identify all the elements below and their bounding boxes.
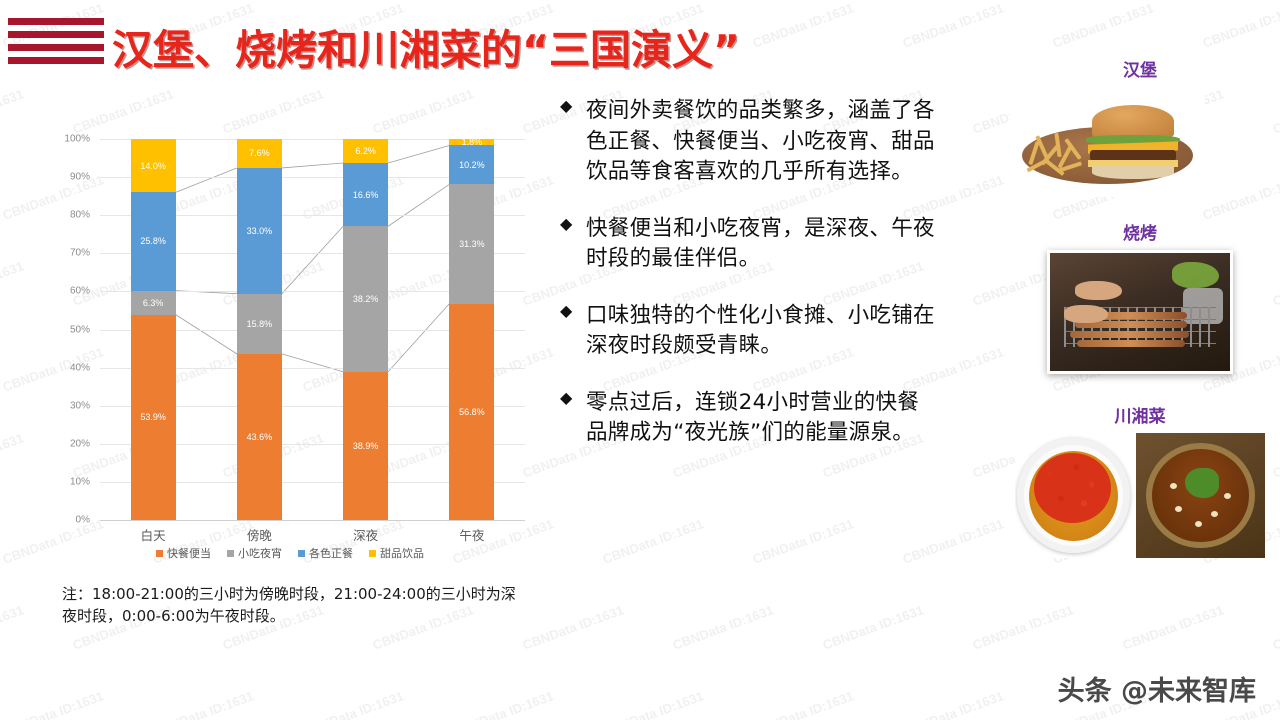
watermark-text: CBNData ID:1631 [301, 688, 406, 720]
y-axis-tick-label: 90% [70, 172, 90, 183]
burger-photo [1010, 87, 1205, 197]
series-connector-line [388, 304, 449, 372]
bar-segment-label: 38.9% [353, 441, 379, 451]
watermark-text: CBNData ID:1631 [671, 602, 776, 652]
bar-segment-label: 56.8% [459, 407, 485, 417]
bar-segment[interactable]: 38.2% [343, 226, 388, 372]
bar-segment[interactable]: 15.8% [237, 294, 282, 354]
legend-item[interactable]: 甜品饮品 [369, 545, 424, 561]
bar-segment[interactable]: 25.8% [131, 192, 176, 290]
list-item: ◆夜间外卖餐饮的品类繁多，涵盖了各色正餐、快餐便当、小吃夜宵、甜品饮品等食客喜欢… [560, 96, 940, 188]
hamburger-menu-icon [8, 18, 104, 64]
source-watermark: 头条 @未来智库 [1058, 669, 1256, 708]
bar-column[interactable]: 56.8%31.3%10.2%1.8% [449, 139, 494, 520]
y-axis-tick-label: 0% [76, 515, 90, 526]
bar-segment[interactable]: 31.3% [449, 184, 494, 303]
photo-label-bbq: 烧烤 [1000, 219, 1280, 244]
legend-label: 甜品饮品 [380, 545, 424, 561]
bar-segment-label: 14.0% [140, 161, 166, 171]
photo-block-bbq: 烧烤 [1000, 219, 1280, 374]
legend-label: 快餐便当 [167, 545, 211, 561]
y-axis-tick-label: 10% [70, 476, 90, 487]
page-title: 汉堡、烧烤和川湘菜的“三国演义” [112, 16, 740, 76]
x-axis-tick-label: 午夜 [415, 525, 529, 544]
bar-segment-label: 6.2% [355, 146, 376, 156]
bar-segment[interactable]: 33.0% [237, 168, 282, 294]
photo-block-sichuan: 川湘菜 [1000, 402, 1280, 558]
diamond-bullet-icon: ◆ [560, 214, 586, 275]
y-axis-tick-label: 100% [64, 134, 90, 145]
bullet-text: 夜间外卖餐饮的品类繁多，涵盖了各色正餐、快餐便当、小吃夜宵、甜品饮品等食客喜欢的… [586, 96, 940, 188]
watermark-text: CBNData ID:1631 [0, 430, 26, 480]
bar-column[interactable]: 53.9%6.3%25.8%14.0% [131, 139, 176, 520]
bar-column[interactable]: 38.9%38.2%16.6%6.2% [343, 139, 388, 520]
watermark-text: CBNData ID:1631 [151, 688, 256, 720]
bar-segment[interactable]: 1.8% [449, 139, 494, 146]
diamond-bullet-icon: ◆ [560, 388, 586, 449]
bar-segment-label: 6.3% [143, 298, 164, 308]
y-axis-tick-label: 80% [70, 210, 90, 221]
watermark-text: CBNData ID:1631 [0, 86, 26, 136]
bar-segment[interactable]: 56.8% [449, 304, 494, 520]
series-connector-line [282, 354, 343, 372]
slide-header: 汉堡、烧烤和川湘菜的“三国演义” [0, 0, 1280, 80]
bar-segment-label: 31.3% [459, 239, 485, 249]
legend-label: 各色正餐 [309, 545, 353, 561]
bar-segment-label: 33.0% [247, 226, 273, 236]
y-axis-tick-label: 30% [70, 400, 90, 411]
watermark-text: CBNData ID:1631 [601, 688, 706, 720]
bar-segment[interactable]: 38.9% [343, 372, 388, 520]
grid-line [100, 520, 525, 521]
chart-legend: 快餐便当小吃夜宵各色正餐甜品饮品 [40, 545, 540, 561]
bullet-text: 快餐便当和小吃夜宵，是深夜、午夜时段的最佳伴侣。 [586, 214, 940, 275]
watermark-text: CBNData ID:1631 [1, 688, 106, 720]
bar-segment-label: 38.2% [353, 294, 379, 304]
sichuan-hunan-dishes-photo [1015, 433, 1265, 558]
bar-segment[interactable]: 10.2% [449, 145, 494, 184]
fries-decoration [1030, 131, 1089, 168]
list-item: ◆零点过后，连锁24小时营业的快餐品牌成为“夜光族”们的能量源泉。 [560, 388, 940, 449]
bar-segment[interactable]: 7.6% [237, 139, 282, 168]
legend-item[interactable]: 各色正餐 [298, 545, 353, 561]
photo-column: 汉堡 [1000, 56, 1280, 686]
bar-segment-label: 25.8% [140, 236, 166, 246]
bar-segment-label: 16.6% [353, 190, 379, 200]
diamond-bullet-icon: ◆ [560, 96, 586, 188]
legend-item[interactable]: 小吃夜宵 [227, 545, 282, 561]
bar-segment-label: 7.6% [249, 148, 270, 158]
x-axis-tick-label: 深夜 [309, 525, 423, 544]
series-connector-line [176, 168, 237, 192]
bar-segment[interactable]: 6.3% [131, 291, 176, 315]
bar-segment[interactable]: 53.9% [131, 315, 176, 520]
bar-segment-label: 15.8% [247, 319, 273, 329]
x-axis-tick-label: 傍晚 [202, 525, 316, 544]
plot-area: 53.9%6.3%25.8%14.0%白天43.6%15.8%33.0%7.6%… [100, 139, 525, 520]
bar-segment[interactable]: 6.2% [343, 139, 388, 163]
watermark-text: CBNData ID:1631 [0, 602, 26, 652]
legend-label: 小吃夜宵 [238, 545, 282, 561]
y-axis-tick-label: 60% [70, 286, 90, 297]
series-connector-line [388, 145, 449, 163]
legend-swatch-icon [298, 550, 305, 557]
series-connector-line [282, 226, 343, 293]
list-item: ◆口味独特的个性化小食摊、小吃铺在深夜时段颇受青睐。 [560, 301, 940, 362]
bar-segment-label: 1.8% [462, 137, 483, 147]
bullet-text: 零点过后，连锁24小时营业的快餐品牌成为“夜光族”们的能量源泉。 [586, 388, 940, 449]
bar-segment-label: 10.2% [459, 160, 485, 170]
legend-swatch-icon [156, 550, 163, 557]
legend-item[interactable]: 快餐便当 [156, 545, 211, 561]
watermark-text: CBNData ID:1631 [751, 516, 856, 566]
bar-column[interactable]: 43.6%15.8%33.0%7.6% [237, 139, 282, 520]
watermark-text: CBNData ID:1631 [901, 516, 1006, 566]
series-connector-line [388, 184, 449, 226]
watermark-text: CBNData ID:1631 [451, 688, 556, 720]
watermark-text: CBNData ID:1631 [901, 688, 1006, 720]
bar-segment-label: 43.6% [247, 432, 273, 442]
series-connector-line [176, 315, 237, 354]
watermark-text: CBNData ID:1631 [821, 602, 926, 652]
watermark-text: CBNData ID:1631 [521, 602, 626, 652]
y-axis-tick-label: 50% [70, 324, 90, 335]
x-axis-tick-label: 白天 [96, 525, 210, 544]
bullet-text: 口味独特的个性化小食摊、小吃铺在深夜时段颇受青睐。 [586, 301, 940, 362]
y-axis-tick-label: 20% [70, 438, 90, 449]
watermark-text: CBNData ID:1631 [0, 258, 26, 308]
y-axis-tick-label: 70% [70, 248, 90, 259]
bar-segment[interactable]: 16.6% [343, 163, 388, 226]
legend-swatch-icon [369, 550, 376, 557]
bar-segment[interactable]: 43.6% [237, 354, 282, 520]
watermark-text: CBNData ID:1631 [751, 688, 856, 720]
list-item: ◆快餐便当和小吃夜宵，是深夜、午夜时段的最佳伴侣。 [560, 214, 940, 275]
photo-label-sichuan: 川湘菜 [1000, 402, 1280, 427]
watermark-text: CBNData ID:1631 [601, 516, 706, 566]
chart-note: 注：18:00-21:00的三小时为傍晚时段，21:00-24:00的三小时为深… [62, 584, 522, 628]
bbq-grill-photo [1047, 250, 1233, 374]
diamond-bullet-icon: ◆ [560, 301, 586, 362]
y-axis-tick-label: 40% [70, 362, 90, 373]
y-axis: 100%90%80%70%60%50%40%30%20%10%0% [40, 139, 96, 520]
bar-segment-label: 53.9% [140, 412, 166, 422]
legend-swatch-icon [227, 550, 234, 557]
bar-segment[interactable]: 14.0% [131, 139, 176, 192]
bullet-list: ◆夜间外卖餐饮的品类繁多，涵盖了各色正餐、快餐便当、小吃夜宵、甜品饮品等食客喜欢… [560, 96, 940, 475]
series-connector-line [282, 163, 343, 168]
stacked-bar-chart: 100%90%80%70%60%50%40%30%20%10%0% 53.9%6… [40, 120, 540, 580]
